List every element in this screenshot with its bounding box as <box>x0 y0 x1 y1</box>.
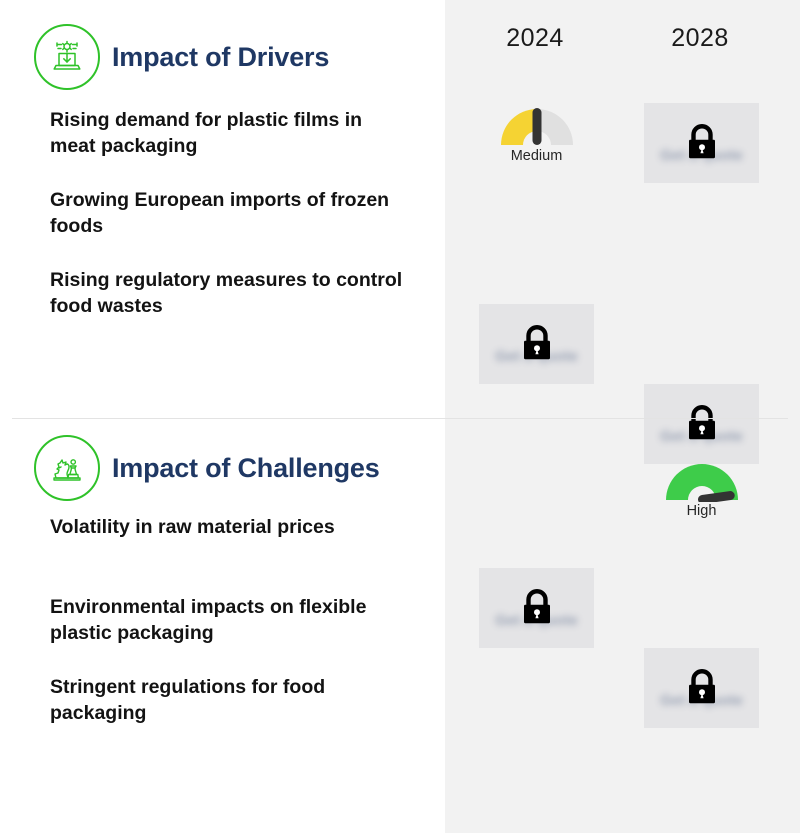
chess-pieces-icon <box>34 435 100 501</box>
locked-cell-drivers-1-2024[interactable]: Get a quote <box>479 304 594 384</box>
lock-icon <box>685 123 719 161</box>
lock-icon <box>520 588 554 626</box>
driver-item-1: Growing European imports of frozen foods <box>50 188 410 239</box>
lock-icon <box>520 324 554 362</box>
locked-cell-drivers-0-2028[interactable]: Get a quote <box>644 103 759 183</box>
gauge-label-high: High <box>687 503 717 519</box>
locked-cell-drivers-2-2024[interactable]: Get a quote <box>479 568 594 648</box>
gauge-high: High <box>644 458 759 538</box>
impact-matrix-page: 2024 2028 Impact of Drivers Rising deman… <box>0 0 800 833</box>
gauge-dial-high <box>662 458 742 502</box>
gauge-medium: Medium <box>479 103 594 183</box>
gauge-label-medium: Medium <box>511 148 563 164</box>
locked-cell-drivers-1-2028[interactable]: Get a quote <box>644 384 759 464</box>
section-header-drivers: Impact of Drivers <box>34 24 329 90</box>
impact-gauge-drivers-0-2024: Medium <box>479 103 594 183</box>
locked-cell-drivers-2-2028[interactable]: Get a quote <box>644 648 759 728</box>
lock-icon <box>685 404 719 442</box>
laptop-gear-download-icon <box>34 24 100 90</box>
section-divider <box>12 418 788 419</box>
section-title-challenges: Impact of Challenges <box>112 453 380 484</box>
challenge-item-1: Environmental impacts on flexible plasti… <box>50 595 410 646</box>
impact-gauge-challenges-0-2028: High <box>644 458 759 538</box>
challenge-item-0: Volatility in raw material prices <box>50 515 410 541</box>
lock-icon <box>685 668 719 706</box>
driver-item-2: Rising regulatory measures to control fo… <box>50 268 410 319</box>
section-title-drivers: Impact of Drivers <box>112 42 329 73</box>
column-header-2028: 2028 <box>630 24 770 53</box>
challenge-item-2: Stringent regulations for food packaging <box>50 675 410 726</box>
column-header-2024: 2024 <box>465 24 605 53</box>
gauge-dial-medium <box>497 103 577 147</box>
section-header-challenges: Impact of Challenges <box>34 435 380 501</box>
driver-item-0: Rising demand for plastic films in meat … <box>50 108 410 159</box>
